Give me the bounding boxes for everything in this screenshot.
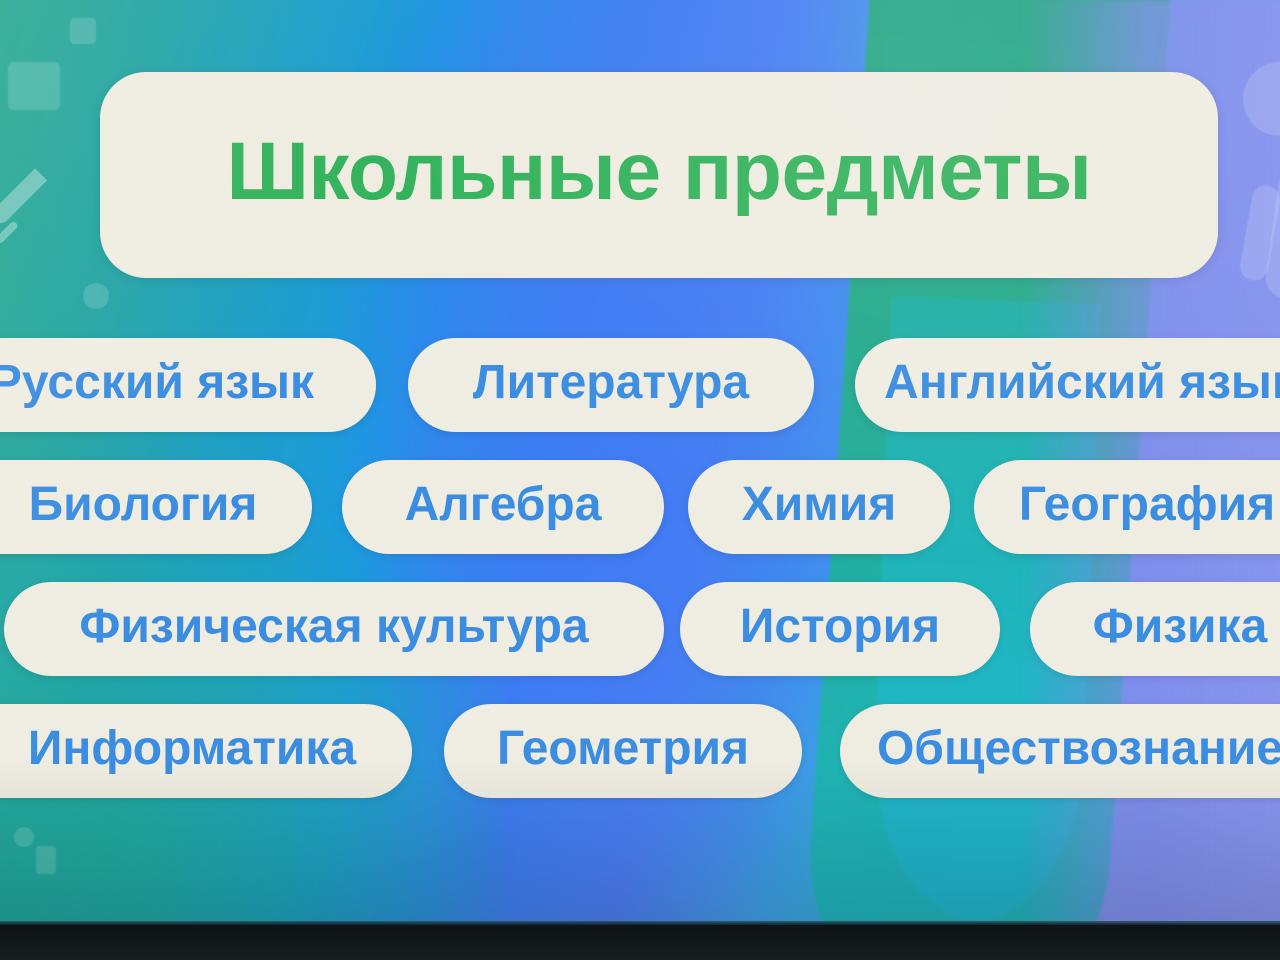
- square-small-icon: [70, 18, 96, 44]
- subject-pill-literature[interactable]: Литература: [408, 338, 814, 432]
- subject-pill-chemistry[interactable]: Химия: [688, 460, 950, 554]
- subject-label: Литература: [473, 359, 749, 411]
- subject-label: Алгебра: [405, 481, 602, 533]
- subject-pill-physical-education[interactable]: Физическая культура: [4, 582, 664, 676]
- subject-label: Биология: [29, 481, 258, 533]
- subject-row: Информатика Геометрия Обществознание: [0, 704, 1280, 826]
- subject-row: Физическая культура История Физика: [0, 582, 1280, 704]
- dot-bottom-icon: [14, 827, 34, 847]
- page-title: Школьные предметы: [227, 131, 1092, 219]
- subject-label: География: [1019, 481, 1275, 533]
- subject-label: Физика: [1093, 603, 1268, 655]
- subject-pill-geography[interactable]: География: [974, 460, 1280, 554]
- subject-pill-russian[interactable]: Русский язык: [0, 338, 376, 432]
- subject-label: Физическая культура: [79, 603, 588, 655]
- subject-label: История: [740, 603, 940, 655]
- square-bottom-icon: [36, 846, 56, 874]
- subject-pill-informatics[interactable]: Информатика: [0, 704, 412, 798]
- subject-pill-physics[interactable]: Физика: [1030, 582, 1280, 676]
- subject-pill-history[interactable]: История: [680, 582, 1000, 676]
- subject-label: Химия: [742, 481, 897, 533]
- subject-label: Английский язык: [884, 359, 1280, 411]
- subject-pill-grid: Русский язык Литература Английский язык …: [0, 338, 1280, 826]
- subject-pill-algebra[interactable]: Алгебра: [342, 460, 664, 554]
- subject-pill-geometry[interactable]: Геометрия: [444, 704, 802, 798]
- slide-title-pill: Школьные предметы: [100, 72, 1218, 278]
- subject-row: Русский язык Литература Английский язык: [0, 338, 1280, 460]
- subject-label: Обществознание: [877, 725, 1280, 777]
- subject-pill-social-studies[interactable]: Обществознание: [840, 704, 1280, 798]
- pencil-icon: [0, 158, 54, 244]
- square-large-icon: [8, 62, 60, 110]
- subject-row: Биология Алгебра Химия География: [0, 460, 1280, 582]
- screenshot-stage: Школьные предметы Русский язык Литератур…: [0, 0, 1280, 960]
- subject-label: Русский язык: [0, 359, 314, 411]
- subject-label: Информатика: [28, 725, 356, 777]
- subject-pill-biology[interactable]: Биология: [0, 460, 312, 554]
- monitor-bezel: [0, 925, 1280, 960]
- dot-small-icon: [83, 283, 109, 309]
- projected-slide: Школьные предметы Русский язык Литератур…: [0, 0, 1280, 925]
- subject-pill-english[interactable]: Английский язык: [855, 338, 1280, 432]
- subject-label: Геометрия: [497, 725, 749, 777]
